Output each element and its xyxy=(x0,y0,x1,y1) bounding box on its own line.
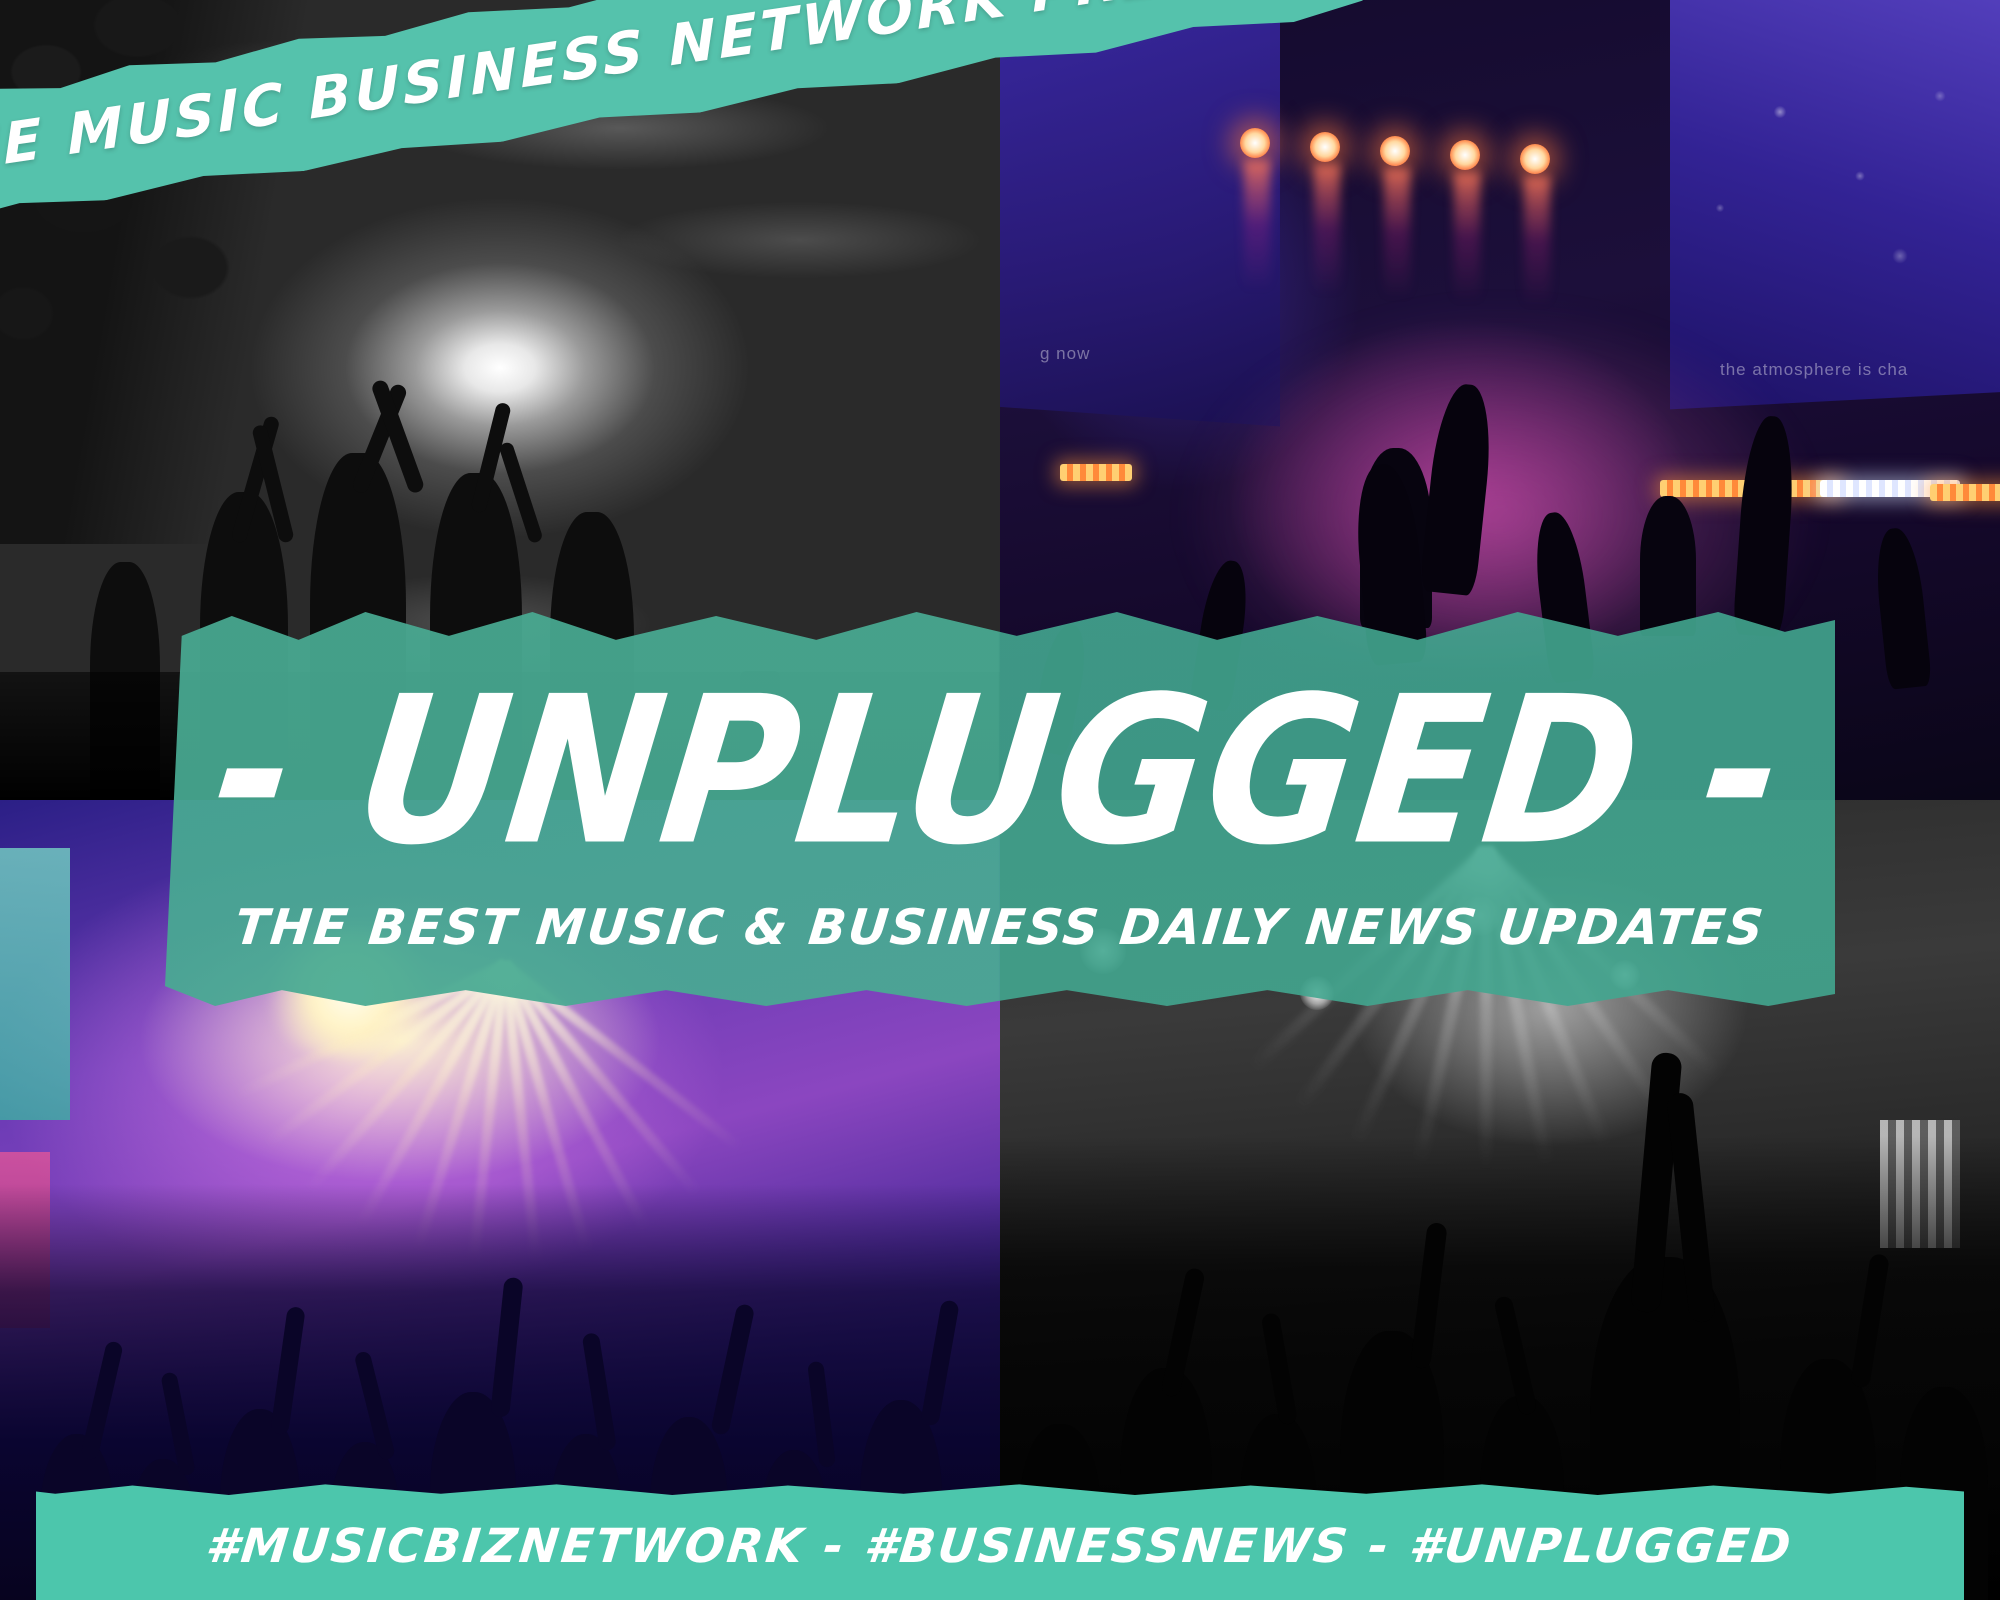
screen-caption-right: the atmosphere is cha xyxy=(1720,360,1908,380)
hashtag-text: #MUSICBIZNETWORK - #BUSINESSNEWS - #UNPL… xyxy=(30,1482,1970,1600)
poster-canvas: g now the atmosphere is cha xyxy=(0,0,2000,1600)
screen-caption-left: g now xyxy=(1040,344,1090,364)
page-subtitle: THE BEST MUSIC & BUSINESS DAILY NEWS UPD… xyxy=(232,899,1768,956)
headline-band: - UNPLUGGED - THE BEST MUSIC & BUSINESS … xyxy=(165,608,1835,1006)
side-screen-teal xyxy=(0,848,70,1120)
page-title: - UNPLUGGED - xyxy=(205,674,1794,870)
hashtag-bar: #MUSICBIZNETWORK - #BUSINESSNEWS - #UNPL… xyxy=(36,1482,1964,1600)
